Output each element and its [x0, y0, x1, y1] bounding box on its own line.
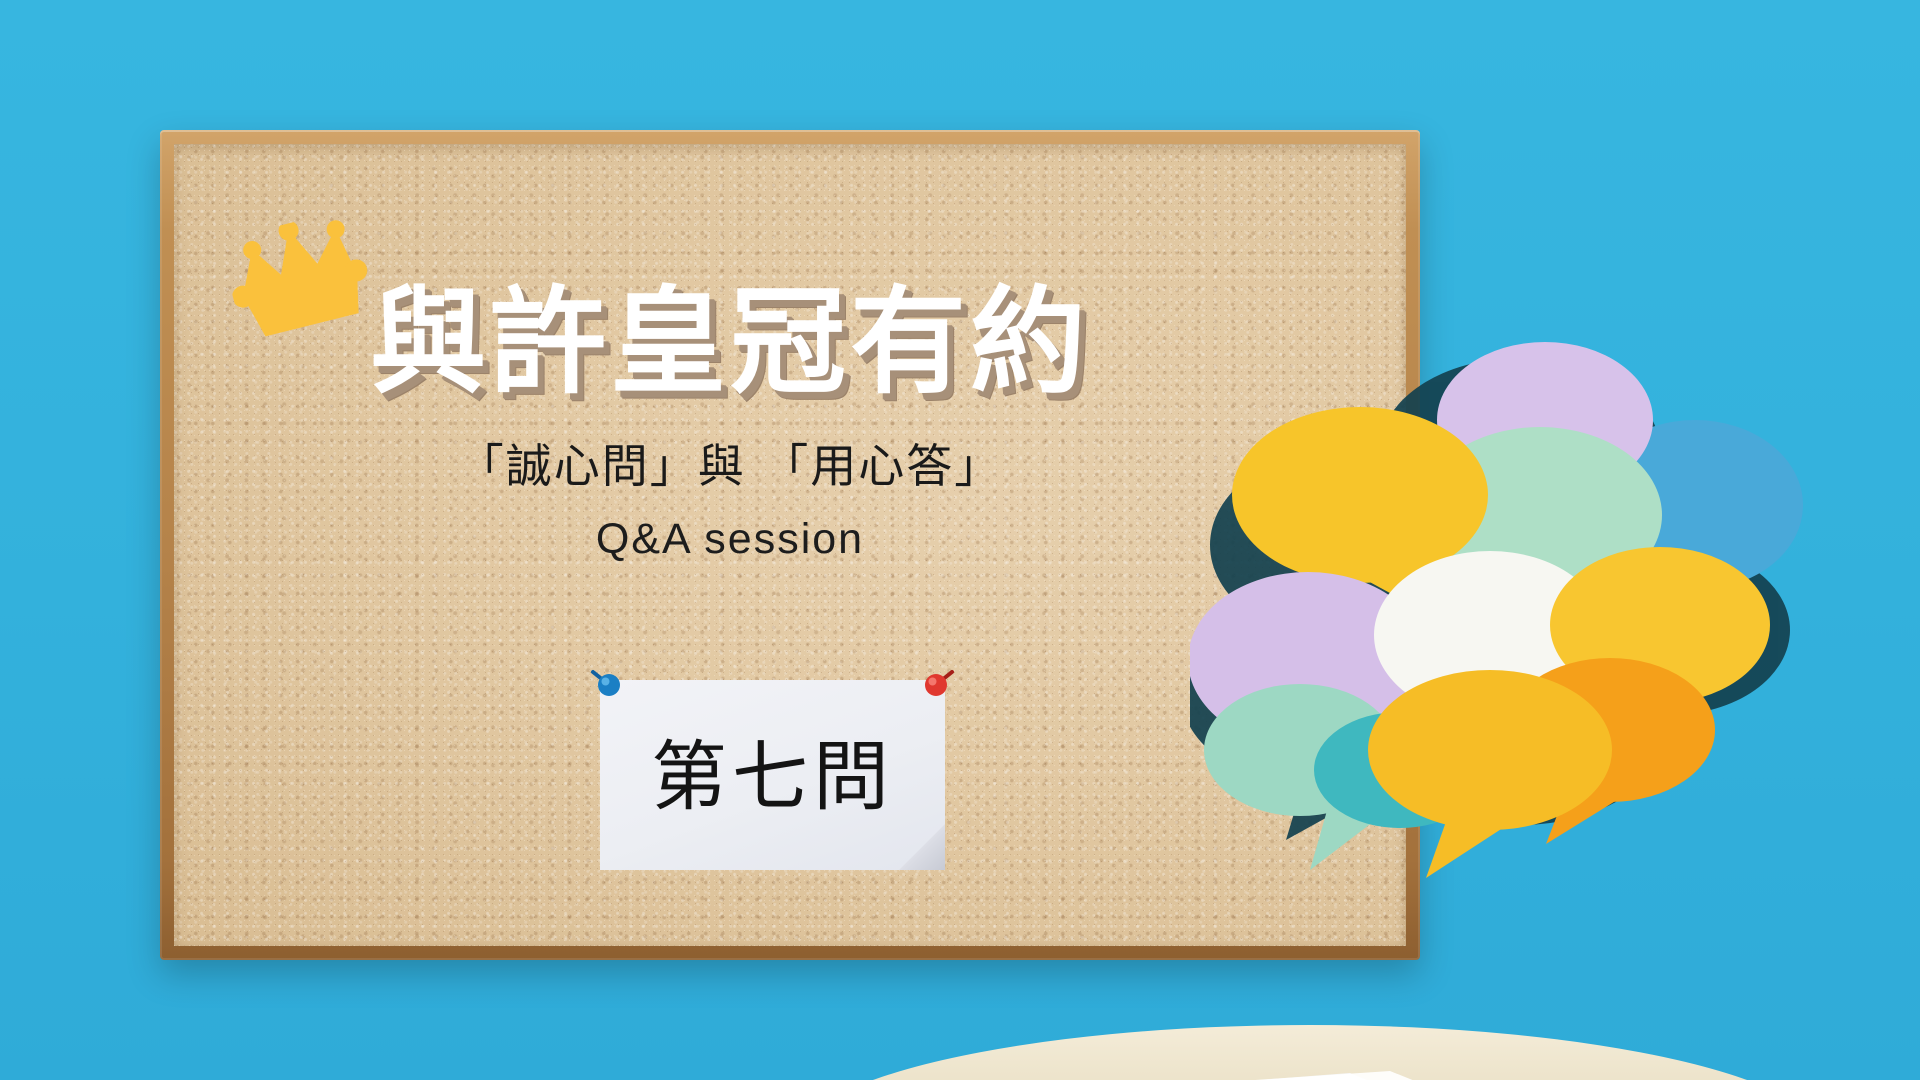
pushpin-blue-icon [588, 666, 622, 700]
pinned-note[interactable]: 第七問 [600, 680, 945, 870]
bubble-gold-bottom [1368, 670, 1612, 878]
pushpin-red-icon [923, 666, 957, 700]
desk-surface [790, 1025, 1830, 1080]
slide-canvas: 與許皇冠有約 「誠心問」與 「用心答」 Q&A session 第七問 [0, 0, 1920, 1080]
desk-with-papers [790, 975, 1830, 1080]
note-label: 第七問 [600, 680, 945, 870]
speech-bubble-cluster [1190, 330, 1840, 890]
